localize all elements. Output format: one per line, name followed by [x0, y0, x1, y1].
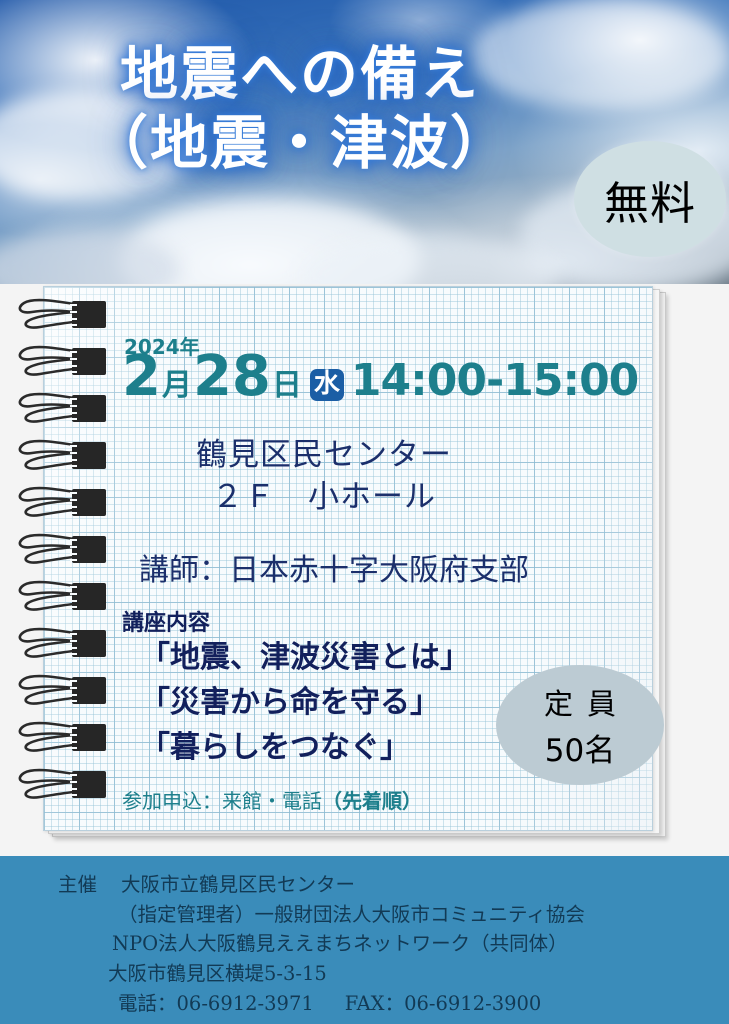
- course-item: 「災害から命を守る」: [140, 680, 470, 725]
- course-item: 「暮らしをつなぐ」: [140, 725, 470, 770]
- spiral-ring: [14, 580, 106, 614]
- event-month-number: 2: [122, 349, 161, 405]
- host-name: 大阪市立鶴見区民センター: [121, 873, 355, 896]
- notebook-area: 2024年 2 月 28 日 水 14:00-15:00 鶴見区民センター ２Ｆ…: [0, 284, 729, 856]
- spiral-hole-notch: [70, 553, 77, 555]
- spiral-ring: [14, 486, 106, 520]
- spiral-hole-notch: [70, 653, 77, 655]
- organizer-info: 主催大阪市立鶴見区民センター （指定管理者）一般財団法人大阪市コミュニティ協会 …: [0, 870, 729, 1018]
- spiral-hole-notch: [70, 512, 77, 514]
- spiral-ring: [14, 627, 106, 661]
- event-day-of-week-badge: 水: [310, 369, 344, 401]
- spiral-hole-notch: [70, 647, 77, 649]
- spiral-hole-notch: [70, 365, 77, 367]
- spiral-hole-notch: [70, 371, 77, 373]
- cloud-shape: [120, 200, 420, 284]
- spiral-hole-notch: [70, 788, 77, 790]
- cloud-shape: [0, 230, 180, 284]
- spiral-ring: [14, 392, 106, 426]
- footer-address: 大阪市鶴見区横堤5-3-15: [108, 959, 729, 989]
- spiral-hole: [72, 301, 106, 328]
- spiral-hole-notch: [70, 445, 77, 447]
- spiral-hole-notch: [70, 459, 77, 461]
- poster-title: 地震への備え （地震・津波）: [0, 44, 600, 174]
- spiral-hole-notch: [70, 734, 77, 736]
- event-time: 14:00-15:00: [351, 359, 638, 403]
- spiral-hole-notch: [70, 465, 77, 467]
- free-badge: 無料: [574, 141, 726, 257]
- spiral-hole-notch: [70, 358, 77, 360]
- spiral-hole-notch: [70, 774, 77, 776]
- spiral-hole-notch: [70, 694, 77, 696]
- spiral-binding: [14, 298, 110, 828]
- footer-line-2: （指定管理者）一般財団法人大阪市コミュニティ協会: [118, 900, 729, 930]
- spiral-hole-notch: [70, 559, 77, 561]
- notebook-content: 2024年 2 月 28 日 水 14:00-15:00 鶴見区民センター ２Ｆ…: [44, 287, 654, 832]
- spiral-hole-notch: [70, 506, 77, 508]
- spiral-ring: [14, 345, 106, 379]
- spiral-hole: [72, 583, 106, 610]
- spiral-ring: [14, 298, 106, 332]
- spiral-hole-notch: [70, 687, 77, 689]
- phone-number: 06-6912-3971: [177, 992, 314, 1015]
- spiral-hole-notch: [70, 727, 77, 729]
- cloud-shape: [300, 235, 560, 284]
- spiral-hole-notch: [70, 324, 77, 326]
- spiral-ring: [14, 674, 106, 708]
- event-day-unit: 日: [272, 371, 302, 401]
- spiral-hole-notch: [70, 418, 77, 420]
- event-day-number: 28: [193, 349, 271, 405]
- spiral-hole-notch: [70, 351, 77, 353]
- fax-label: FAX：: [345, 992, 404, 1015]
- spiral-hole-notch: [70, 700, 77, 702]
- footer-band: 主催大阪市立鶴見区民センター （指定管理者）一般財団法人大阪市コミュニティ協会 …: [0, 856, 729, 1024]
- spiral-hole: [72, 536, 106, 563]
- spiral-ring: [14, 439, 106, 473]
- fax-number: 06-6912-3900: [404, 992, 541, 1015]
- spiral-hole-notch: [70, 781, 77, 783]
- spiral-hole-notch: [70, 640, 77, 642]
- spiral-hole-notch: [70, 586, 77, 588]
- spiral-hole-notch: [70, 546, 77, 548]
- course-item: 「地震、津波災害とは」: [140, 635, 470, 680]
- spiral-hole-notch: [70, 304, 77, 306]
- spiral-hole: [72, 442, 106, 469]
- event-month-unit: 月: [162, 371, 192, 401]
- spiral-hole-notch: [70, 539, 77, 541]
- spiral-hole-notch: [70, 680, 77, 682]
- spiral-ring: [14, 721, 106, 755]
- spiral-hole-notch: [70, 318, 77, 320]
- spiral-hole: [72, 677, 106, 704]
- poster-root: 地震への備え （地震・津波） 無料 2024年 2 月 28 日 水 14:00…: [0, 0, 729, 1024]
- spiral-hole-notch: [70, 633, 77, 635]
- footer-line-1: 主催大阪市立鶴見区民センター: [58, 870, 729, 900]
- spiral-hole-notch: [70, 412, 77, 414]
- spiral-hole: [72, 348, 106, 375]
- host-label: 主催: [58, 873, 97, 896]
- lecturer-line: 講師：日本赤十字大阪府支部: [44, 545, 624, 589]
- footer-contact: 電話：06-6912-3971 FAX：06-6912-3900: [118, 989, 729, 1019]
- event-date-line: 2 月 28 日 水 14:00-15:00: [122, 349, 638, 405]
- spiral-hole: [72, 395, 106, 422]
- spiral-hole-notch: [70, 747, 77, 749]
- spiral-hole-notch: [70, 593, 77, 595]
- application-method: 参加申込：来館・電話（先着順）: [122, 785, 422, 814]
- footer-line-3: NPO法人大阪鶴見ええまちネットワーク（共同体）: [112, 929, 729, 959]
- venue-block: 鶴見区民センター ２Ｆ 小ホール: [44, 435, 604, 519]
- spiral-hole-notch: [70, 311, 77, 313]
- phone-label: 電話：: [118, 992, 177, 1015]
- spiral-hole: [72, 771, 106, 798]
- venue-line-2: ２Ｆ 小ホール: [44, 477, 604, 519]
- spiral-ring: [14, 768, 106, 802]
- capacity-value: 50名: [545, 725, 615, 770]
- notebook-page: 2024年 2 月 28 日 水 14:00-15:00 鶴見区民センター ２Ｆ…: [43, 286, 653, 831]
- spiral-hole-notch: [70, 492, 77, 494]
- spiral-hole-notch: [70, 398, 77, 400]
- spiral-hole-notch: [70, 452, 77, 454]
- spiral-hole-notch: [70, 499, 77, 501]
- contact-spacer: [314, 992, 345, 1015]
- application-order-note: （先着順）: [322, 789, 422, 813]
- course-content-heading: 講座内容: [122, 605, 210, 637]
- title-line-1: 地震への備え: [0, 44, 600, 105]
- spiral-hole-notch: [70, 405, 77, 407]
- header-sky-banner: 地震への備え （地震・津波） 無料: [0, 0, 729, 284]
- application-method-text: 参加申込：来館・電話: [122, 789, 322, 813]
- spiral-hole: [72, 489, 106, 516]
- spiral-hole-notch: [70, 794, 77, 796]
- spiral-ring: [14, 533, 106, 567]
- spiral-hole-notch: [70, 600, 77, 602]
- course-content-list: 「地震、津波災害とは」 「災害から命を守る」 「暮らしをつなぐ」: [140, 635, 470, 770]
- spiral-hole-notch: [70, 741, 77, 743]
- capacity-badge: 定員 50名: [496, 665, 664, 785]
- capacity-label: 定員: [530, 681, 630, 723]
- spiral-hole-notch: [70, 606, 77, 608]
- venue-line-1: 鶴見区民センター: [44, 435, 604, 477]
- spiral-hole: [72, 630, 106, 657]
- title-line-2: （地震・津波）: [0, 113, 600, 174]
- spiral-hole: [72, 724, 106, 751]
- free-badge-label: 無料: [604, 167, 696, 232]
